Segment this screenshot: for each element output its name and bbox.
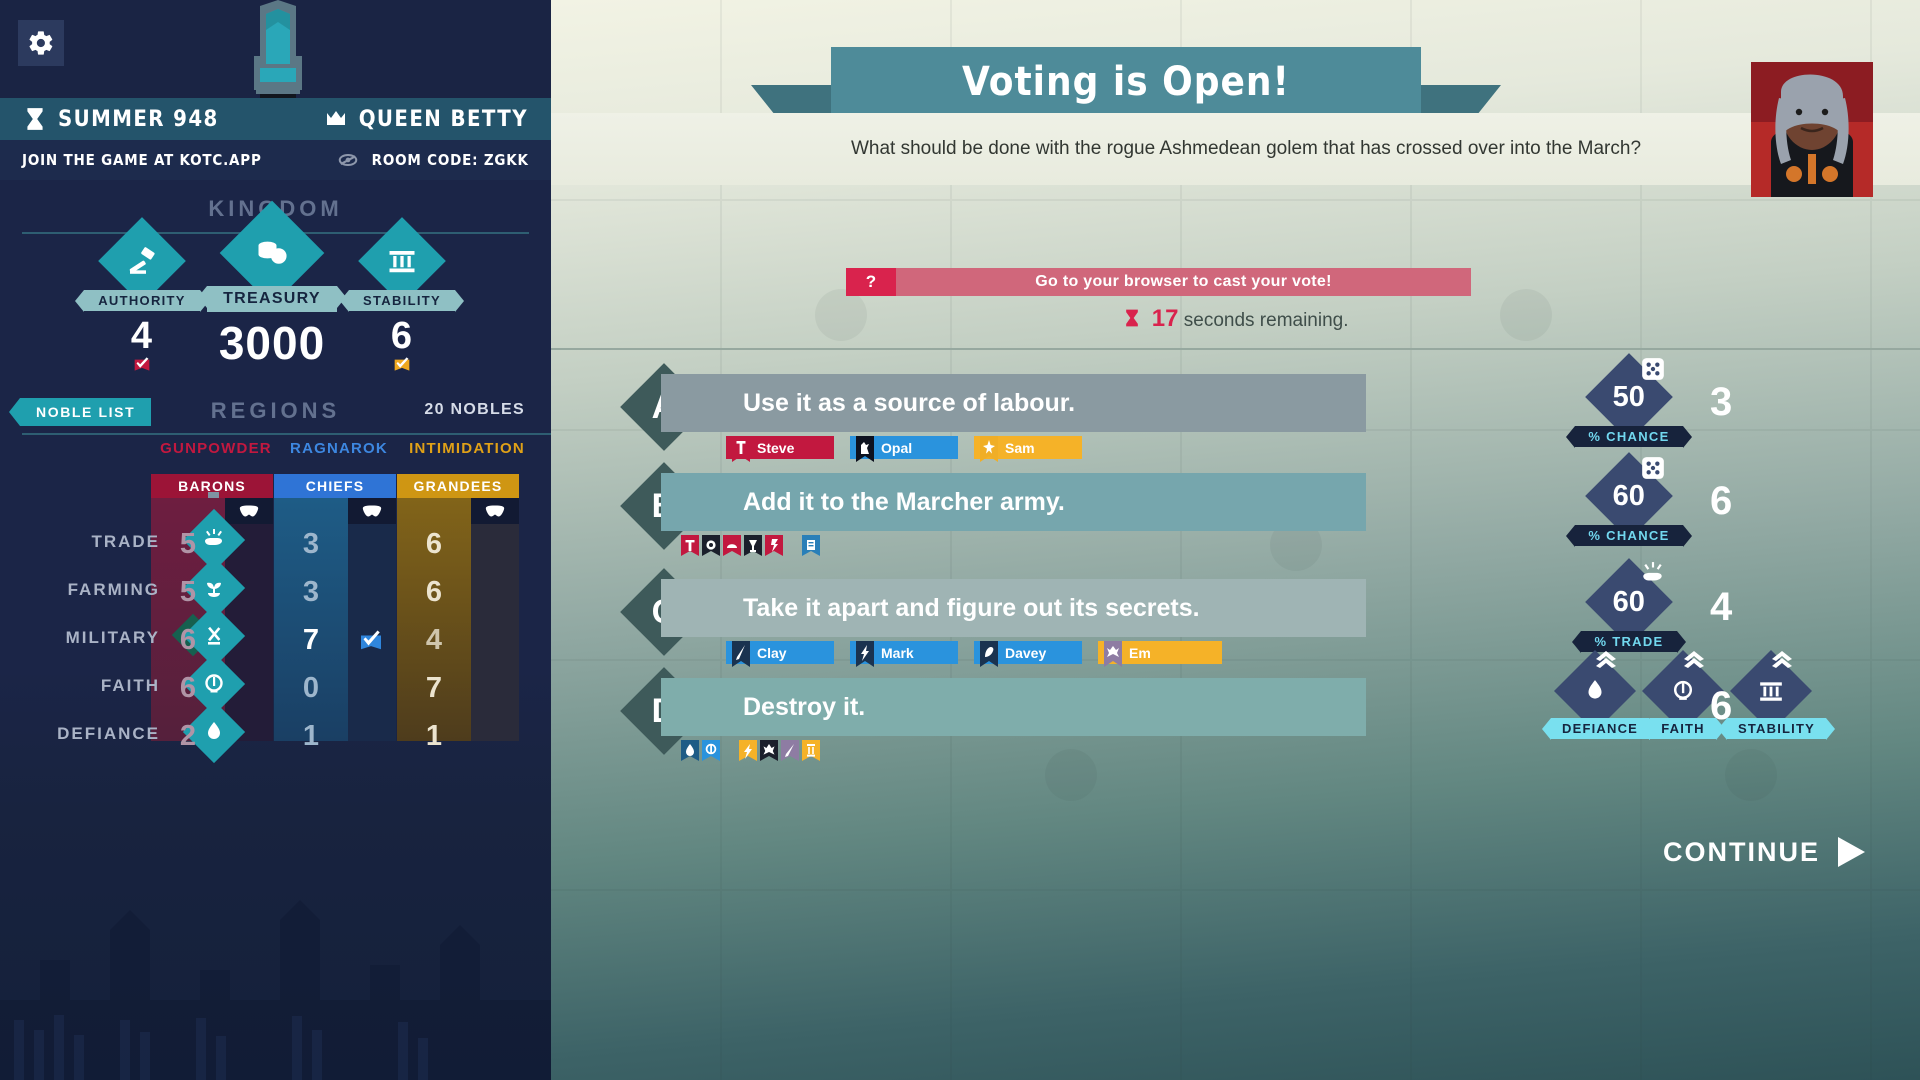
- stability-flag-icon: [391, 356, 413, 378]
- voter-chip: Davey: [974, 641, 1082, 664]
- sidebar: Summer 948 Queen Betty Join the game at …: [0, 0, 551, 1080]
- cell-farming-grandees: 6: [397, 576, 471, 609]
- region-row-label-farming: Farming: [0, 580, 160, 600]
- join-label: Join the game at kotc.app: [22, 151, 262, 169]
- season-bar: Summer 948 Queen Betty: [0, 98, 551, 140]
- vote-chip-icon: [802, 740, 820, 766]
- hourglass-icon: [22, 105, 48, 133]
- voter-chip: Clay: [726, 641, 834, 664]
- vote-chip-icon: [702, 740, 720, 766]
- eye-off-icon: [334, 149, 362, 171]
- hourglass-icon: [1122, 306, 1142, 330]
- kingdom-stats: Authority 4 Treasury 30: [0, 230, 551, 370]
- house-header-0: Gunpowder: [151, 440, 281, 457]
- regions-title-bands: Barons Chiefs Grandees: [0, 474, 551, 498]
- double-up-arrow-icon: [1768, 648, 1796, 670]
- column-grandees-spy: [471, 498, 519, 741]
- voter-name: Steve: [757, 440, 794, 456]
- cell-farming-chiefs: 3: [274, 576, 348, 609]
- statmod-defiance: Defiance: [1551, 662, 1639, 739]
- double-up-arrow-icon: [1680, 648, 1708, 670]
- option-a-odds-tag: % Chance: [1575, 426, 1682, 447]
- cast-vote-cta[interactable]: ? Go to your browser to cast your vote!: [846, 268, 1471, 296]
- season-label: Summer 948: [58, 107, 219, 132]
- region-row-label-defiance: Defiance: [0, 724, 160, 744]
- vote-chip-icon: [760, 740, 778, 766]
- house-header-2: Intimidation: [397, 440, 537, 457]
- vote-chip-icon: [702, 535, 720, 561]
- voter-chip: Em: [1098, 641, 1222, 664]
- city-skyline-decoration: [0, 890, 551, 1080]
- voter-chip: Sam: [974, 436, 1082, 459]
- gavel-icon: [126, 245, 158, 277]
- regions-table: Gunpowder Ragnarok Intimidation Barons C…: [0, 440, 551, 748]
- statmod-stability: Stability: [1727, 662, 1815, 739]
- stability-value: 6: [322, 315, 482, 358]
- coins-icon: [254, 235, 290, 271]
- option-d-score: 6: [1710, 684, 1732, 729]
- option-d-bar: Destroy it.: [661, 678, 1366, 736]
- cell-trade-chiefs: 3: [274, 528, 348, 561]
- content-divider: [551, 348, 1920, 350]
- authority-flag-icon: [131, 356, 153, 378]
- griffin-icon: [856, 436, 874, 468]
- voter-chip: Mark: [850, 641, 958, 664]
- flame-icon: [1582, 678, 1608, 704]
- advisor-portrait: [1751, 62, 1873, 197]
- voter-name: Opal: [881, 440, 912, 456]
- dice-icon: [1640, 356, 1666, 382]
- option-a-text: Use it as a source of labour.: [743, 389, 1075, 418]
- regions-divider: [22, 433, 551, 435]
- game-screen: Summer 948 Queen Betty Join the game at …: [0, 0, 1920, 1080]
- stability-tag: Stability: [349, 290, 455, 311]
- option-a-voters: Steve Opal Sam: [726, 436, 1082, 459]
- continue-label: Continue: [1663, 837, 1820, 868]
- play-arrow-icon: [1834, 834, 1868, 870]
- join-bar: Join the game at kotc.app Room Code: ZGK…: [0, 140, 551, 180]
- region-row-label-faith: Faith: [0, 676, 160, 696]
- spy-strip-0: [225, 498, 273, 524]
- banner-title: Voting is Open!: [962, 59, 1290, 105]
- option-c-bar: Take it apart and figure out its secrets…: [661, 579, 1366, 637]
- cell-faith-chiefs: 0: [274, 672, 348, 705]
- option-a-score: 3: [1710, 380, 1732, 425]
- option-c-odds: 60 % Trade: [1570, 571, 1688, 652]
- option-d-stat-modifiers: Defiance: [1551, 662, 1815, 739]
- option-b-odds: 60 % Chance: [1570, 465, 1688, 546]
- dice-icon: [1640, 455, 1666, 481]
- option-d-vote-chips: [681, 740, 823, 766]
- vote-chip-icon: [681, 740, 699, 766]
- option-b-odds-tag: % Chance: [1575, 525, 1682, 546]
- option-c-score: 4: [1710, 585, 1732, 630]
- voter-name: Em: [1129, 645, 1151, 661]
- cta-question-badge: ?: [846, 268, 896, 296]
- vote-chip-icon: [765, 535, 783, 561]
- double-up-arrow-icon: [1592, 648, 1620, 670]
- mask-icon: [238, 505, 260, 517]
- option-a-odds-value: 50: [1613, 380, 1645, 413]
- house-header-1: Ragnarok: [274, 440, 404, 457]
- cell-defiance-grandees: 1: [397, 720, 471, 753]
- quill-icon: [732, 641, 750, 673]
- voter-name: Mark: [881, 645, 914, 661]
- option-c-text: Take it apart and figure out its secrets…: [743, 594, 1200, 623]
- ruler-label: Queen Betty: [359, 107, 528, 132]
- cell-military-grandees: 4: [397, 624, 471, 657]
- mask-icon: [484, 505, 506, 517]
- continue-button[interactable]: Continue: [1663, 834, 1868, 870]
- option-c-voters: Clay Mark Davey: [726, 641, 1222, 664]
- cell-defiance-chiefs: 1: [274, 720, 348, 753]
- timer-suffix: seconds remaining.: [1184, 310, 1349, 331]
- voter-name: Clay: [757, 645, 787, 661]
- option-a-bar: Use it as a source of labour.: [661, 374, 1366, 432]
- star-icon: [980, 436, 998, 468]
- option-b-score: 6: [1710, 479, 1732, 524]
- regions-columns: Trade 5 3 6 Farming: [0, 498, 551, 748]
- faith-icon: [1670, 678, 1696, 704]
- vote-chip-icon: [802, 535, 820, 561]
- timer-row: 17 seconds remaining.: [551, 305, 1920, 333]
- vote-chip-icon: [781, 740, 799, 766]
- room-code-label: Room Code: ZGKK: [372, 151, 529, 169]
- statmod-stability-label: Stability: [1727, 718, 1826, 739]
- main-panel: Voting is Open! What should be done with…: [551, 0, 1920, 1080]
- option-b-odds-value: 60: [1613, 479, 1645, 512]
- bird-icon: [980, 641, 998, 673]
- question-box: What should be done with the rogue Ashme…: [551, 113, 1920, 185]
- bolt-icon: [856, 641, 874, 673]
- spy-strip-1: [348, 498, 396, 524]
- mask-icon: [361, 505, 383, 517]
- vote-chip-icon: [739, 740, 757, 766]
- treasury-tag: Treasury: [207, 286, 337, 312]
- eagle-icon: [1104, 641, 1122, 673]
- cell-defiance-barons: 2: [151, 720, 225, 753]
- option-c-odds-value: 60: [1613, 585, 1645, 618]
- trade-icon: [1640, 561, 1666, 587]
- vote-chip-icon: [723, 535, 741, 561]
- option-b-text: Add it to the Marcher army.: [743, 488, 1065, 517]
- spy-strip-2: [471, 498, 519, 524]
- option-d-text: Destroy it.: [743, 693, 865, 722]
- military-chiefs-check-icon: [356, 628, 386, 658]
- voting-banner: Voting is Open!: [831, 47, 1421, 117]
- cta-label: Go to your browser to cast your vote!: [896, 268, 1471, 296]
- crown-icon: [323, 107, 349, 131]
- statmod-defiance-label: Defiance: [1551, 718, 1649, 739]
- option-b-bar: Add it to the Marcher army.: [661, 473, 1366, 531]
- voter-name: Sam: [1005, 440, 1035, 456]
- statmod-faith-label: Faith: [1650, 718, 1716, 739]
- option-b-vote-chips: [681, 535, 823, 561]
- cell-military-chiefs: 7: [274, 624, 348, 657]
- house-band-2: Grandees: [397, 474, 519, 498]
- voter-name: Davey: [1005, 645, 1046, 661]
- column-chiefs-spy: [348, 498, 396, 741]
- settings-button[interactable]: [18, 20, 64, 66]
- sword-icon: [732, 436, 750, 468]
- cell-faith-grandees: 7: [397, 672, 471, 705]
- stat-stability[interactable]: Stability 6: [322, 230, 482, 383]
- voter-chip: Steve: [726, 436, 834, 459]
- house-band-1: Chiefs: [274, 474, 396, 498]
- regions-house-headers: Gunpowder Ragnarok Intimidation: [0, 440, 551, 474]
- region-row-label-trade: Trade: [0, 532, 160, 552]
- question-text: What should be done with the rogue Ashme…: [851, 138, 1641, 160]
- vote-chip-icon: [744, 535, 762, 561]
- nobles-count: 20 Nobles: [424, 401, 525, 419]
- gear-icon: [27, 29, 55, 57]
- pillar-icon: [1758, 678, 1784, 704]
- cell-trade-grandees: 6: [397, 528, 471, 561]
- option-a-odds: 50 % Chance: [1570, 366, 1688, 447]
- timer-value: 17: [1152, 305, 1179, 332]
- region-row-label-military: Military: [0, 628, 160, 648]
- pillar-icon: [387, 246, 417, 276]
- vote-chip-icon: [681, 535, 699, 561]
- voter-chip: Opal: [850, 436, 958, 459]
